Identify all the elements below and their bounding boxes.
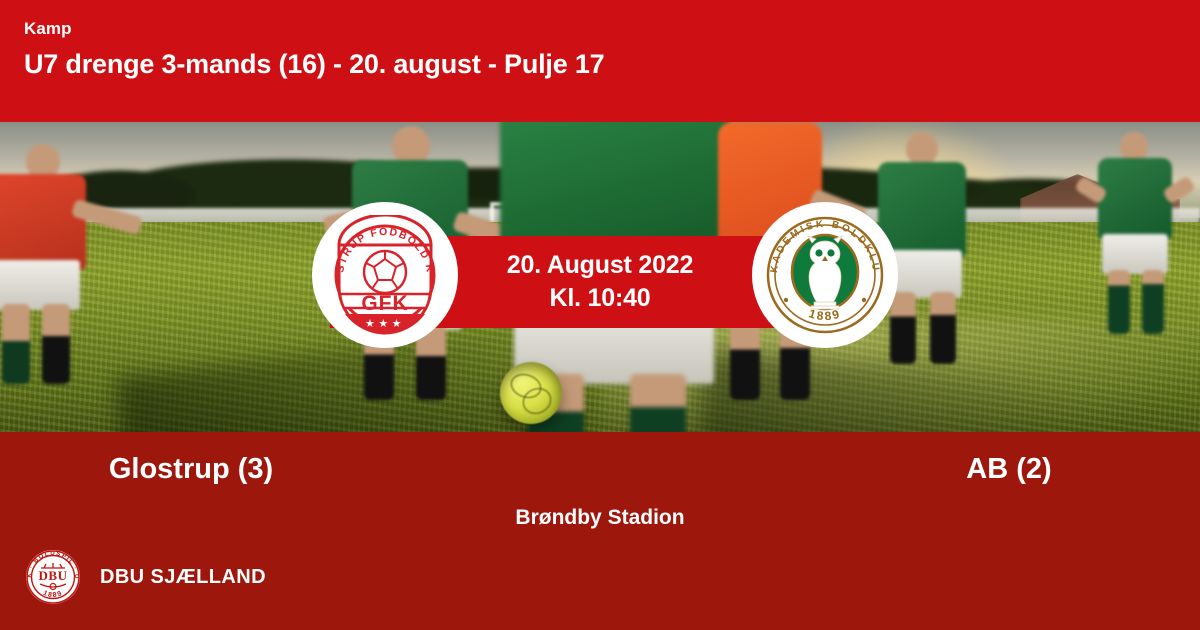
- player-red-bib: [0, 148, 104, 358]
- home-team-name: Glostrup (3): [0, 450, 600, 488]
- svg-text:GFK: GFK: [361, 292, 408, 315]
- away-team-name: AB (2): [600, 450, 1200, 488]
- match-date: 20. August 2022: [507, 249, 693, 282]
- header-kicker: Kamp: [24, 18, 1200, 40]
- footer-label: DBU SJÆLLAND: [100, 564, 266, 590]
- dbu-seal-icon: DANSK · BOLDSPIL · UNION 1889 DBU: [24, 548, 82, 606]
- away-crest-disc: AKADEMISK BOLDKLUB 1889 AKADEMISK BOLDKL…: [752, 202, 898, 348]
- player-far-right: [1080, 132, 1190, 332]
- team-names-row: Glostrup (3) AB (2): [0, 450, 1200, 488]
- football-icon: [500, 362, 562, 424]
- gfk-crest-icon: GLOSTRUP FODBOLD KLUB GFK ★★★: [325, 215, 445, 335]
- page-title: U7 drenge 3-mands (16) - 20. august - Pu…: [24, 47, 1200, 81]
- dbu-monogram: DBU: [39, 568, 68, 583]
- match-graphic-card: Kamp U7 drenge 3-mands (16) - 20. august…: [0, 0, 1200, 630]
- match-time: Kl. 10:40: [549, 282, 650, 315]
- venue-name: Brøndby Stadion: [0, 504, 1200, 532]
- header-bar: Kamp U7 drenge 3-mands (16) - 20. august…: [0, 0, 1200, 122]
- ab-crest-icon: AKADEMISK BOLDKLUB 1889: [764, 214, 886, 336]
- home-crest-disc: GLOSTRUP FODBOLD KLUB GFK ★★★ GLOSTRUP F…: [312, 202, 458, 348]
- footer: DANSK · BOLDSPIL · UNION 1889 DBU DBU SJ…: [24, 548, 266, 606]
- gfk-stars: ★★★: [365, 318, 405, 330]
